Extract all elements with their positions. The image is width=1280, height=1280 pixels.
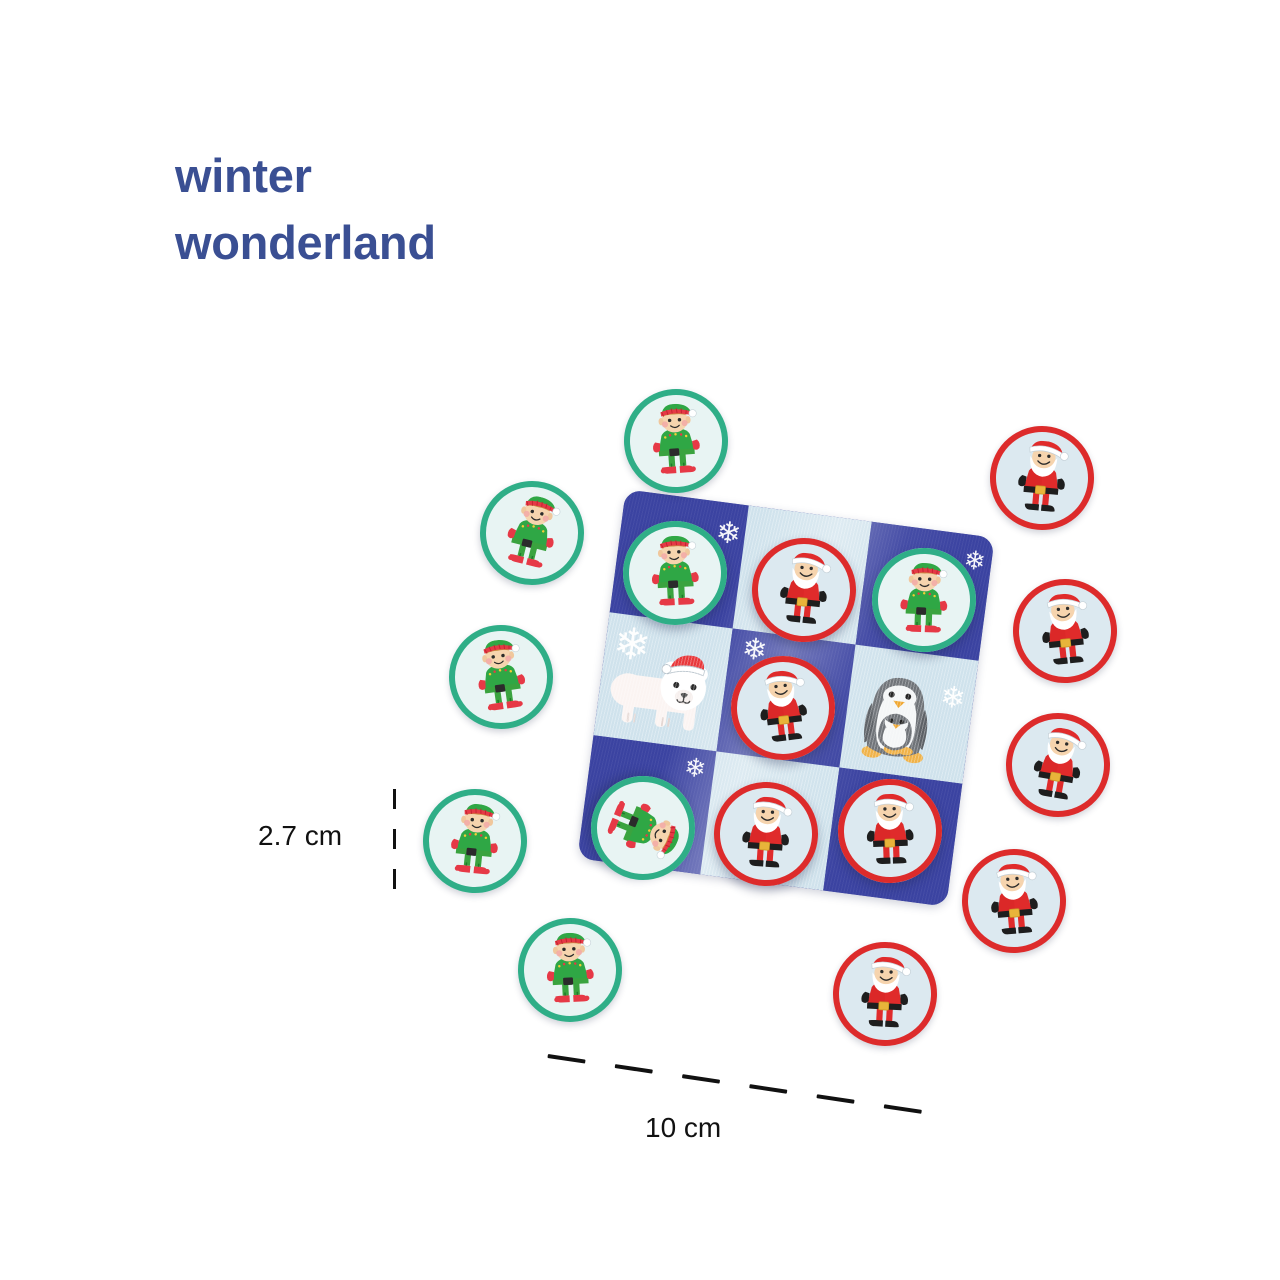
elf-token[interactable] (620, 385, 731, 496)
elf-character-icon (418, 784, 532, 898)
santa-token[interactable] (747, 533, 861, 647)
width-dimension-dash (749, 1084, 787, 1094)
elf-character-icon (469, 470, 595, 596)
width-dimension-dash (682, 1074, 720, 1084)
height-dimension-dash (393, 789, 396, 809)
santa-character-icon (710, 778, 821, 889)
santa-token[interactable] (830, 939, 939, 1048)
polar-bear-icon (596, 630, 726, 745)
elf-token[interactable] (870, 546, 978, 654)
santa-character-icon (836, 777, 944, 885)
santa-token[interactable] (986, 422, 1099, 535)
elf-character-icon (620, 518, 729, 627)
elf-token[interactable] (515, 915, 624, 1024)
snowflake-icon: ❄ (683, 753, 708, 782)
santa-character-icon (958, 845, 1071, 958)
width-dimension-label: 10 cm (645, 1112, 721, 1144)
elf-character-icon (442, 618, 559, 735)
elf-character-icon (870, 546, 978, 654)
width-dimension-dash (615, 1064, 653, 1074)
santa-token[interactable] (958, 845, 1071, 958)
height-dimension-dash (393, 829, 396, 849)
board-cell-3[interactable]: ❄ (593, 612, 732, 751)
penguin-icon (848, 664, 953, 777)
board-cell-5[interactable]: ❄ (839, 645, 978, 784)
snowflake-icon: ❄ (611, 621, 653, 669)
width-dimension-dash (547, 1054, 585, 1064)
santa-character-icon (986, 422, 1099, 535)
santa-token[interactable] (998, 705, 1118, 825)
product-photo-stage: winter wonderland 2.7 cm 10 cm ❄ ❄ (0, 0, 1280, 1280)
elf-character-icon (620, 385, 731, 496)
width-dimension-dash (816, 1094, 854, 1104)
elf-token[interactable] (418, 784, 532, 898)
elf-character-icon (515, 915, 624, 1024)
santa-character-icon (747, 533, 861, 647)
santa-token[interactable] (836, 777, 944, 885)
width-dimension-dash (884, 1104, 922, 1114)
santa-token[interactable] (710, 778, 821, 889)
height-dimension-label: 2.7 cm (258, 820, 342, 852)
width-dimension-line (539, 1054, 924, 1170)
santa-character-icon (998, 705, 1118, 825)
santa-character-icon (1008, 574, 1122, 688)
snowflake-icon: ❄ (938, 682, 967, 715)
elf-token[interactable] (469, 470, 595, 596)
santa-character-icon (830, 939, 939, 1048)
page-title: winter wonderland (175, 143, 695, 276)
santa-token[interactable] (1008, 574, 1122, 688)
elf-token[interactable] (620, 518, 729, 627)
elf-token[interactable] (442, 618, 559, 735)
height-dimension-dash (393, 869, 396, 889)
santa-character-icon (725, 650, 841, 766)
santa-token[interactable] (725, 650, 841, 766)
